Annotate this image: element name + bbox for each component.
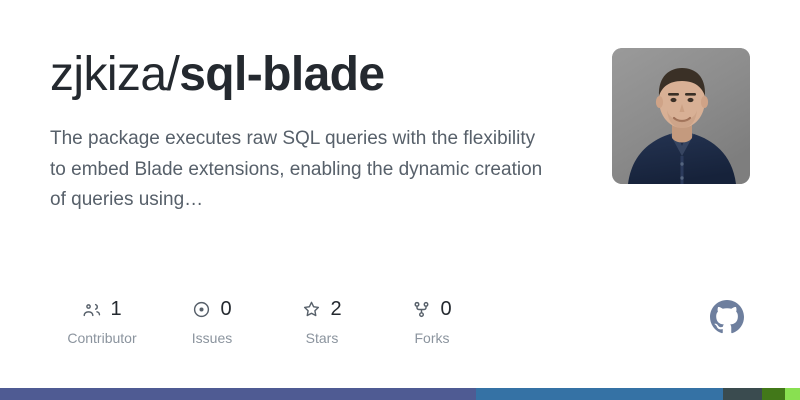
issue-opened-icon [192, 300, 211, 319]
people-icon [82, 300, 101, 319]
repo-social-card: zjkiza/sql-blade The package executes ra… [0, 0, 800, 400]
repo-stats: 1 Contributor 0 Issues [50, 296, 750, 345]
stat-stars: 2 Stars [270, 296, 374, 345]
stat-top: 0 [412, 296, 451, 322]
github-mark-icon [710, 300, 744, 334]
stat-top: 1 [82, 296, 121, 322]
card-header: zjkiza/sql-blade The package executes ra… [50, 48, 750, 216]
repo-separator: / [166, 48, 179, 101]
language-segment-3 [723, 388, 762, 400]
stat-top: 0 [192, 296, 231, 322]
stat-contributors: 1 Contributor [50, 296, 154, 345]
language-segment-2 [476, 388, 723, 400]
language-bar [0, 388, 800, 400]
language-segment-4 [762, 388, 785, 400]
stat-top: 2 [302, 296, 341, 322]
repo-description: The package executes raw SQL queries wit… [50, 124, 555, 216]
page-title: zjkiza/sql-blade [50, 48, 555, 102]
title-block: zjkiza/sql-blade The package executes ra… [50, 48, 555, 216]
repo-forked-icon [412, 300, 431, 319]
star-icon [302, 300, 321, 319]
stat-value: 2 [330, 299, 341, 319]
avatar [612, 48, 750, 184]
stat-value: 1 [110, 299, 121, 319]
stat-label: Contributor [67, 331, 136, 345]
stat-value: 0 [440, 299, 451, 319]
stat-label: Issues [192, 331, 232, 345]
language-segment-1 [0, 388, 476, 400]
repo-name: sql-blade [179, 48, 384, 101]
stat-issues: 0 Issues [160, 296, 264, 345]
stat-label: Stars [306, 331, 339, 345]
stat-label: Forks [415, 331, 450, 345]
repo-owner: zjkiza [50, 48, 166, 101]
language-segment-5 [785, 388, 800, 400]
stat-forks: 0 Forks [380, 296, 484, 345]
stat-value: 0 [220, 299, 231, 319]
